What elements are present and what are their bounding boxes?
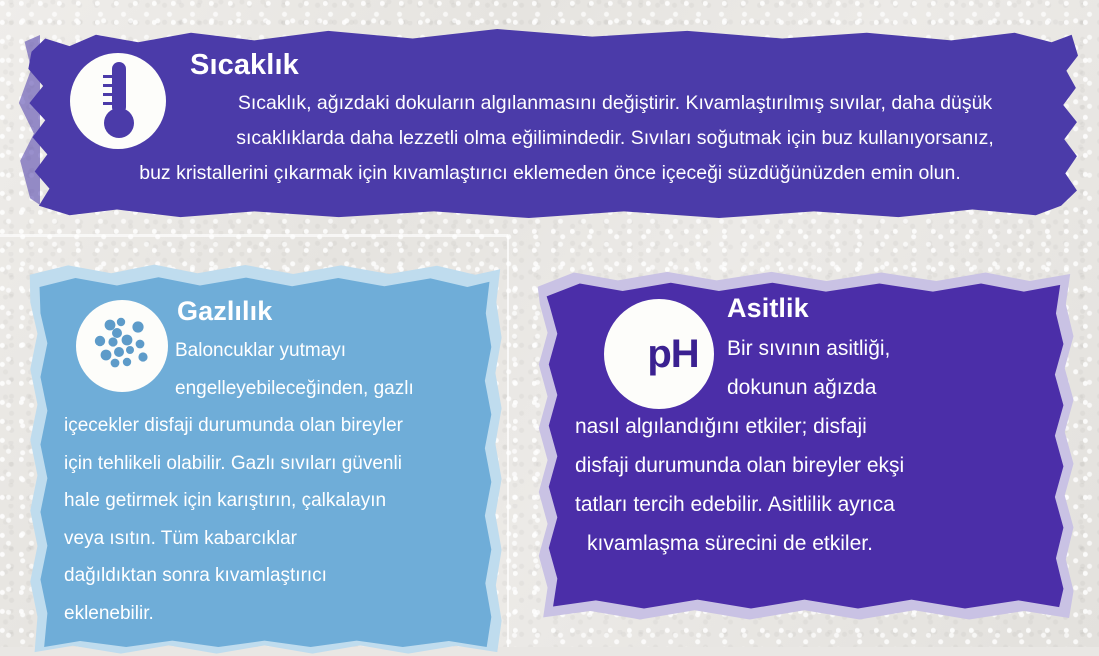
- carbonation-body-line: eklenebilir.: [34, 595, 495, 633]
- carbonation-title: Gazlılık: [177, 296, 272, 327]
- carbonation-body-line: için tehlikeli olabilir. Gazlı sıvıları …: [34, 445, 495, 483]
- acidity-body-line: Bir sıvının asitliği,: [537, 329, 1072, 368]
- acidity-card: pH Asitlik Bir sıvının asitliği, dokunun…: [537, 276, 1072, 616]
- carbonation-body-line: veya ısıtın. Tüm kabarcıklar: [34, 520, 495, 558]
- carbonation-card: Gazlılık Baloncuklar yutmayı engelleyebi…: [34, 272, 495, 647]
- acidity-body-line: kıvamlaşma sürecini de etkiler.: [537, 524, 1072, 563]
- acidity-body-line: nasıl algılandığını etkiler; disfaji: [537, 407, 1072, 446]
- carbonation-body-line: engelleyebileceğinden, gazlı: [34, 370, 495, 408]
- temperature-body-line: sıcaklıklarda daha lezzetli olma eğilimi…: [22, 121, 1078, 156]
- temperature-title: Sıcaklık: [190, 49, 299, 82]
- acidity-body: Bir sıvının asitliği, dokunun ağızda nas…: [537, 329, 1072, 563]
- temperature-body-line: Sıcaklık, ağızdaki dokuların algılanması…: [22, 86, 1078, 121]
- carbonation-body-line: Baloncuklar yutmayı: [34, 332, 495, 370]
- temperature-body-line: buz kristallerini çıkarmak için kıvamlaş…: [22, 156, 1078, 191]
- temperature-body: Sıcaklık, ağızdaki dokuların algılanması…: [22, 86, 1078, 191]
- carbonation-body-line: hale getirmek için karıştırın, çalkalayı…: [34, 482, 495, 520]
- background-seam-horizontal: [0, 234, 508, 237]
- acidity-body-line: disfaji durumunda olan bireyler ekşi: [537, 446, 1072, 485]
- background-seam-vertical: [507, 236, 509, 647]
- carbonation-body: Baloncuklar yutmayı engelleyebileceğinde…: [34, 332, 495, 632]
- carbonation-body-line: içecekler disfaji durumunda olan bireyle…: [34, 407, 495, 445]
- carbonation-body-line: dağıldıktan sonra kıvamlaştırıcı: [34, 557, 495, 595]
- acidity-body-line: dokunun ağızda: [537, 368, 1072, 407]
- acidity-title: Asitlik: [727, 293, 809, 324]
- temperature-card: Sıcaklık Sıcaklık, ağızdaki dokuların al…: [22, 29, 1078, 219]
- acidity-body-line: tatları tercih edebilir. Asitlilik ayrıc…: [537, 485, 1072, 524]
